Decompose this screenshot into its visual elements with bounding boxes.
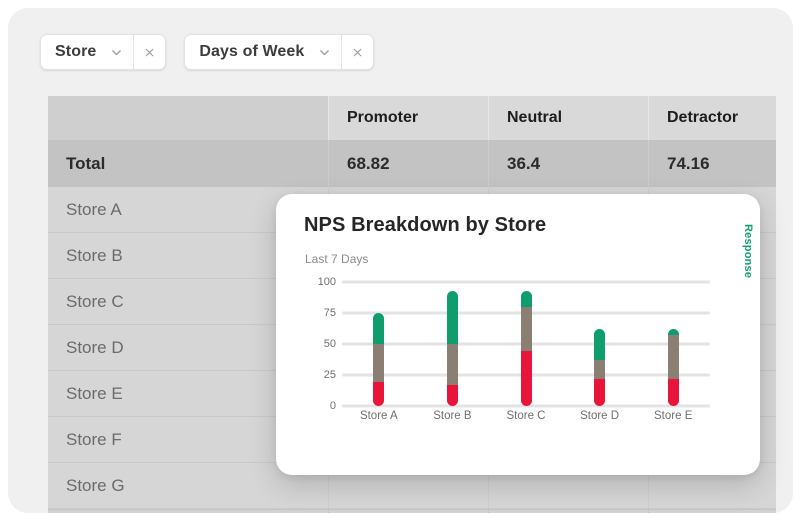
chart-subtitle: Last 7 Days xyxy=(305,252,368,266)
filter-chip-days-of-week-label: Days of Week xyxy=(199,43,304,61)
chart-title: NPS Breakdown by Store xyxy=(304,214,546,237)
chevron-down-icon[interactable] xyxy=(318,46,331,59)
chart-bar-segment-detractor xyxy=(668,379,679,406)
table-header-cell-neutral[interactable]: Neutral xyxy=(488,96,648,140)
chevron-down-icon[interactable] xyxy=(110,46,123,59)
chart-bar-segment-detractor xyxy=(521,351,532,406)
total-label: Total xyxy=(48,141,328,187)
filter-bar: Store Days of Week xyxy=(40,34,374,70)
chart-bar-segment-neutral xyxy=(594,360,605,379)
app-panel: Store Days of Week xyxy=(8,8,793,513)
filter-chip-store-label: Store xyxy=(55,43,96,61)
chart-bar-segment-detractor xyxy=(447,385,458,406)
y-axis-title: Response xyxy=(742,224,754,278)
x-axis-tick-label: Store E xyxy=(654,410,692,422)
summary-promoter: 68.82 xyxy=(328,510,488,513)
total-detractor: 74.16 xyxy=(648,141,776,187)
chart-bar-segment-promoter xyxy=(594,329,605,360)
y-axis-tick-label: 50 xyxy=(324,338,336,350)
y-axis-tick-label: 25 xyxy=(324,369,336,381)
chart-bar-segment-detractor xyxy=(594,379,605,406)
chart-plot-area: 0255075100 Store AStore BStore CStore DS… xyxy=(300,282,736,457)
chart-bar[interactable] xyxy=(521,291,532,406)
nps-chart-card: NPS Breakdown by Store Last 7 Days 02550… xyxy=(276,194,760,475)
summary-neutral: 36.4 xyxy=(488,510,648,513)
x-axis-tick-label: Store A xyxy=(360,410,398,422)
summary-label xyxy=(48,510,328,513)
y-axis-tick-labels: 0255075100 xyxy=(300,282,336,406)
chart-bar-segment-promoter xyxy=(521,291,532,307)
chart-bar-segment-neutral xyxy=(373,344,384,382)
table-header-cell-promoter[interactable]: Promoter xyxy=(328,96,488,140)
x-axis-tick-labels: Store AStore BStore CStore DStore E xyxy=(342,410,710,430)
chart-bar-segment-promoter xyxy=(447,291,458,344)
chart-bar-segment-detractor xyxy=(373,382,384,406)
chart-bars xyxy=(342,282,710,406)
chart-bar-segment-neutral xyxy=(668,335,679,378)
chart-bar-segment-neutral xyxy=(521,307,532,352)
summary-detractor: 74.16 xyxy=(648,510,776,513)
table-header-row: Promoter Neutral Detractor xyxy=(48,96,776,141)
x-axis-tick-label: Store D xyxy=(580,410,619,422)
filter-chip-store-main[interactable]: Store xyxy=(41,35,133,69)
filter-chip-days-of-week-main[interactable]: Days of Week xyxy=(185,35,341,69)
x-axis-tick-label: Store C xyxy=(507,410,546,422)
x-axis-tick-label: Store B xyxy=(433,410,471,422)
y-axis-tick-label: 0 xyxy=(330,400,336,412)
filter-chip-days-of-week-remove-button[interactable] xyxy=(342,35,373,69)
filter-chip-days-of-week[interactable]: Days of Week xyxy=(184,34,374,70)
chart-bar[interactable] xyxy=(594,329,605,406)
screen: Store Days of Week xyxy=(0,0,801,521)
table-header-cell-blank[interactable] xyxy=(48,96,328,140)
filter-chip-store[interactable]: Store xyxy=(40,34,166,70)
table-header-cell-detractor[interactable]: Detractor xyxy=(648,96,776,140)
chart-bar[interactable] xyxy=(447,291,458,406)
y-axis-tick-label: 100 xyxy=(318,276,336,288)
filter-chip-store-remove-button[interactable] xyxy=(134,35,165,69)
chart-bar[interactable] xyxy=(668,329,679,406)
y-axis-tick-label: 75 xyxy=(324,307,336,319)
total-neutral: 36.4 xyxy=(488,141,648,187)
table-row-summary[interactable]: 68.82 36.4 74.16 xyxy=(48,509,776,513)
chart-bar[interactable] xyxy=(373,313,384,406)
chart-bar-segment-neutral xyxy=(447,344,458,385)
table-row-total[interactable]: Total 68.82 36.4 74.16 xyxy=(48,141,776,187)
total-promoter: 68.82 xyxy=(328,141,488,187)
chart-bar-segment-promoter xyxy=(373,313,384,344)
